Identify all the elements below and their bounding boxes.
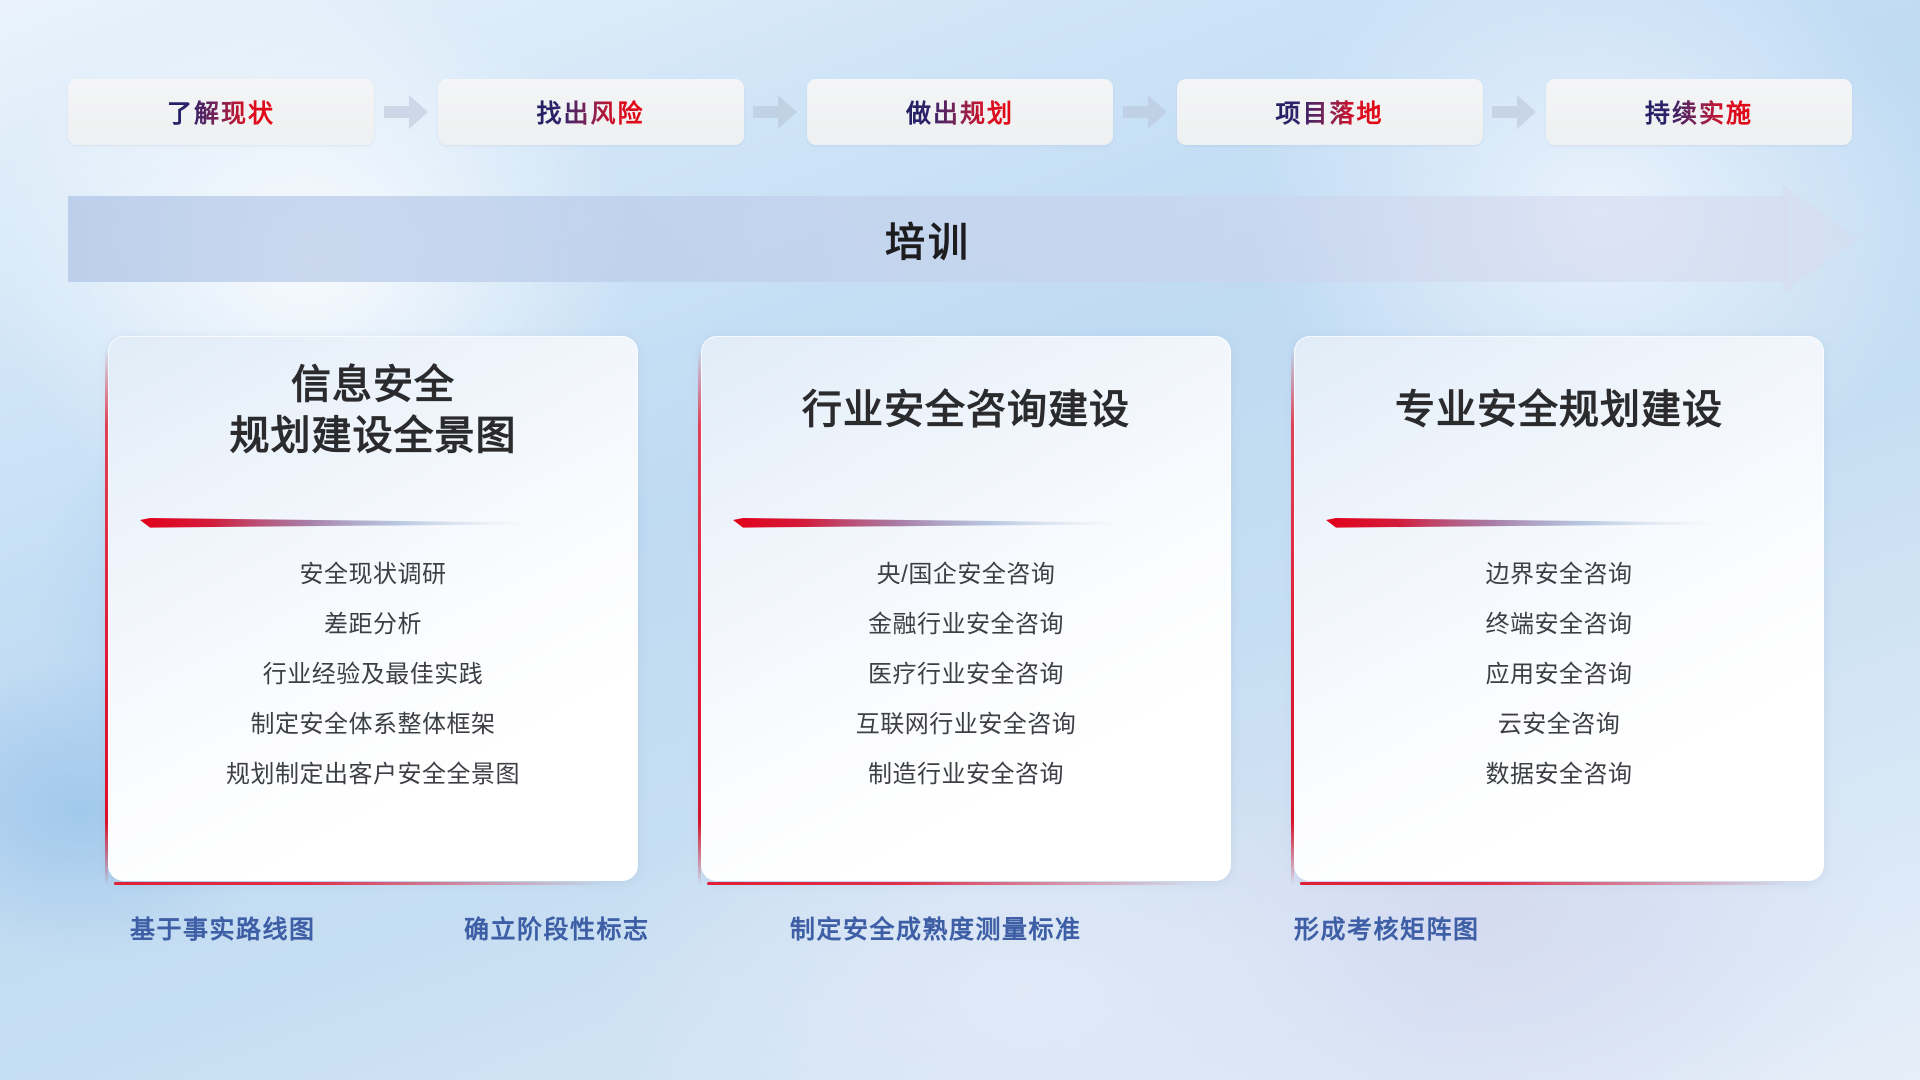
arrow-right-icon: [1123, 95, 1167, 129]
arrow-right-icon: [384, 95, 428, 129]
slide-canvas: 了解现状 找出风险 做出规划 项目落地 持续实施 培训: [0, 0, 1920, 1080]
caption-assessment-matrix: 形成考核矩阵图: [1294, 910, 1480, 946]
list-item: 制造行业安全咨询: [868, 750, 1064, 800]
list-item: 规划制定出客户安全全景图: [226, 750, 520, 800]
step-box-5[interactable]: 持续实施: [1546, 79, 1852, 145]
training-arrow-band: 培训: [68, 196, 1858, 282]
step-label: 项目落地: [1275, 94, 1383, 130]
card-list: 央/国企安全咨询 金融行业安全咨询 医疗行业安全咨询 互联网行业安全咨询 制造行…: [701, 550, 1231, 800]
card-divider: [140, 518, 536, 530]
card-information-security-blueprint[interactable]: 信息安全 规划建设全景图 安全现状调研 差: [108, 336, 638, 881]
list-item: 安全现状调研: [300, 550, 447, 600]
card-title-line: 专业安全规划建设: [1395, 385, 1723, 436]
list-item: 应用安全咨询: [1486, 650, 1633, 700]
band-arrowhead-icon: [1783, 185, 1859, 293]
step-box-2[interactable]: 找出风险: [438, 79, 744, 145]
list-item: 差距分析: [324, 600, 422, 650]
caption-maturity-standard: 制定安全成熟度测量标准: [790, 910, 1082, 946]
card-title-line: 规划建设全景图: [230, 411, 517, 462]
list-item: 云安全咨询: [1498, 700, 1621, 750]
card-title: 行业安全咨询建设: [701, 336, 1231, 486]
list-item: 互联网行业安全咨询: [856, 700, 1077, 750]
card-professional-security-planning[interactable]: 专业安全规划建设 边界安全咨询 终端安全咨询: [1294, 336, 1824, 881]
arrow-right-icon: [753, 95, 797, 129]
step-box-1[interactable]: 了解现状: [68, 79, 374, 145]
card-title: 专业安全规划建设: [1294, 336, 1824, 486]
card-list: 安全现状调研 差距分析 行业经验及最佳实践 制定安全体系整体框架 规划制定出客户…: [108, 550, 638, 800]
card-industry-security-consulting[interactable]: 行业安全咨询建设 央/国企安全咨询 金融行业安全咨询: [701, 336, 1231, 881]
step-box-3[interactable]: 做出规划: [807, 79, 1113, 145]
list-item: 金融行业安全咨询: [868, 600, 1064, 650]
list-item: 行业经验及最佳实践: [263, 650, 484, 700]
card-row: 信息安全 规划建设全景图 安全现状调研 差: [108, 336, 1824, 881]
list-item: 医疗行业安全咨询: [868, 650, 1064, 700]
step-label: 持续实施: [1645, 94, 1753, 130]
list-item: 数据安全咨询: [1486, 750, 1633, 800]
step-label: 做出规划: [906, 94, 1014, 130]
caption-fact-based-roadmap: 基于事实路线图: [130, 910, 316, 946]
card-title-line: 信息安全: [291, 360, 455, 411]
list-item: 制定安全体系整体框架: [251, 700, 496, 750]
card-title: 信息安全 规划建设全景图: [108, 336, 638, 486]
card-title-line: 行业安全咨询建设: [802, 385, 1130, 436]
caption-row: 基于事实路线图 确立阶段性标志 制定安全成熟度测量标准 形成考核矩阵图: [0, 910, 1920, 960]
list-item: 边界安全咨询: [1486, 550, 1633, 600]
list-item: 终端安全咨询: [1486, 600, 1633, 650]
list-item: 央/国企安全咨询: [877, 550, 1056, 600]
arrow-right-icon: [1492, 95, 1536, 129]
card-divider: [1326, 518, 1722, 530]
card-divider: [733, 518, 1129, 530]
step-box-4[interactable]: 项目落地: [1177, 79, 1483, 145]
card-list: 边界安全咨询 终端安全咨询 应用安全咨询 云安全咨询 数据安全咨询: [1294, 550, 1824, 800]
band-title: 培训: [68, 196, 1788, 282]
caption-phase-milestones: 确立阶段性标志: [464, 910, 650, 946]
step-label: 了解现状: [167, 94, 275, 130]
process-step-row: 了解现状 找出风险 做出规划 项目落地 持续实施: [68, 78, 1852, 146]
step-label: 找出风险: [536, 94, 644, 130]
